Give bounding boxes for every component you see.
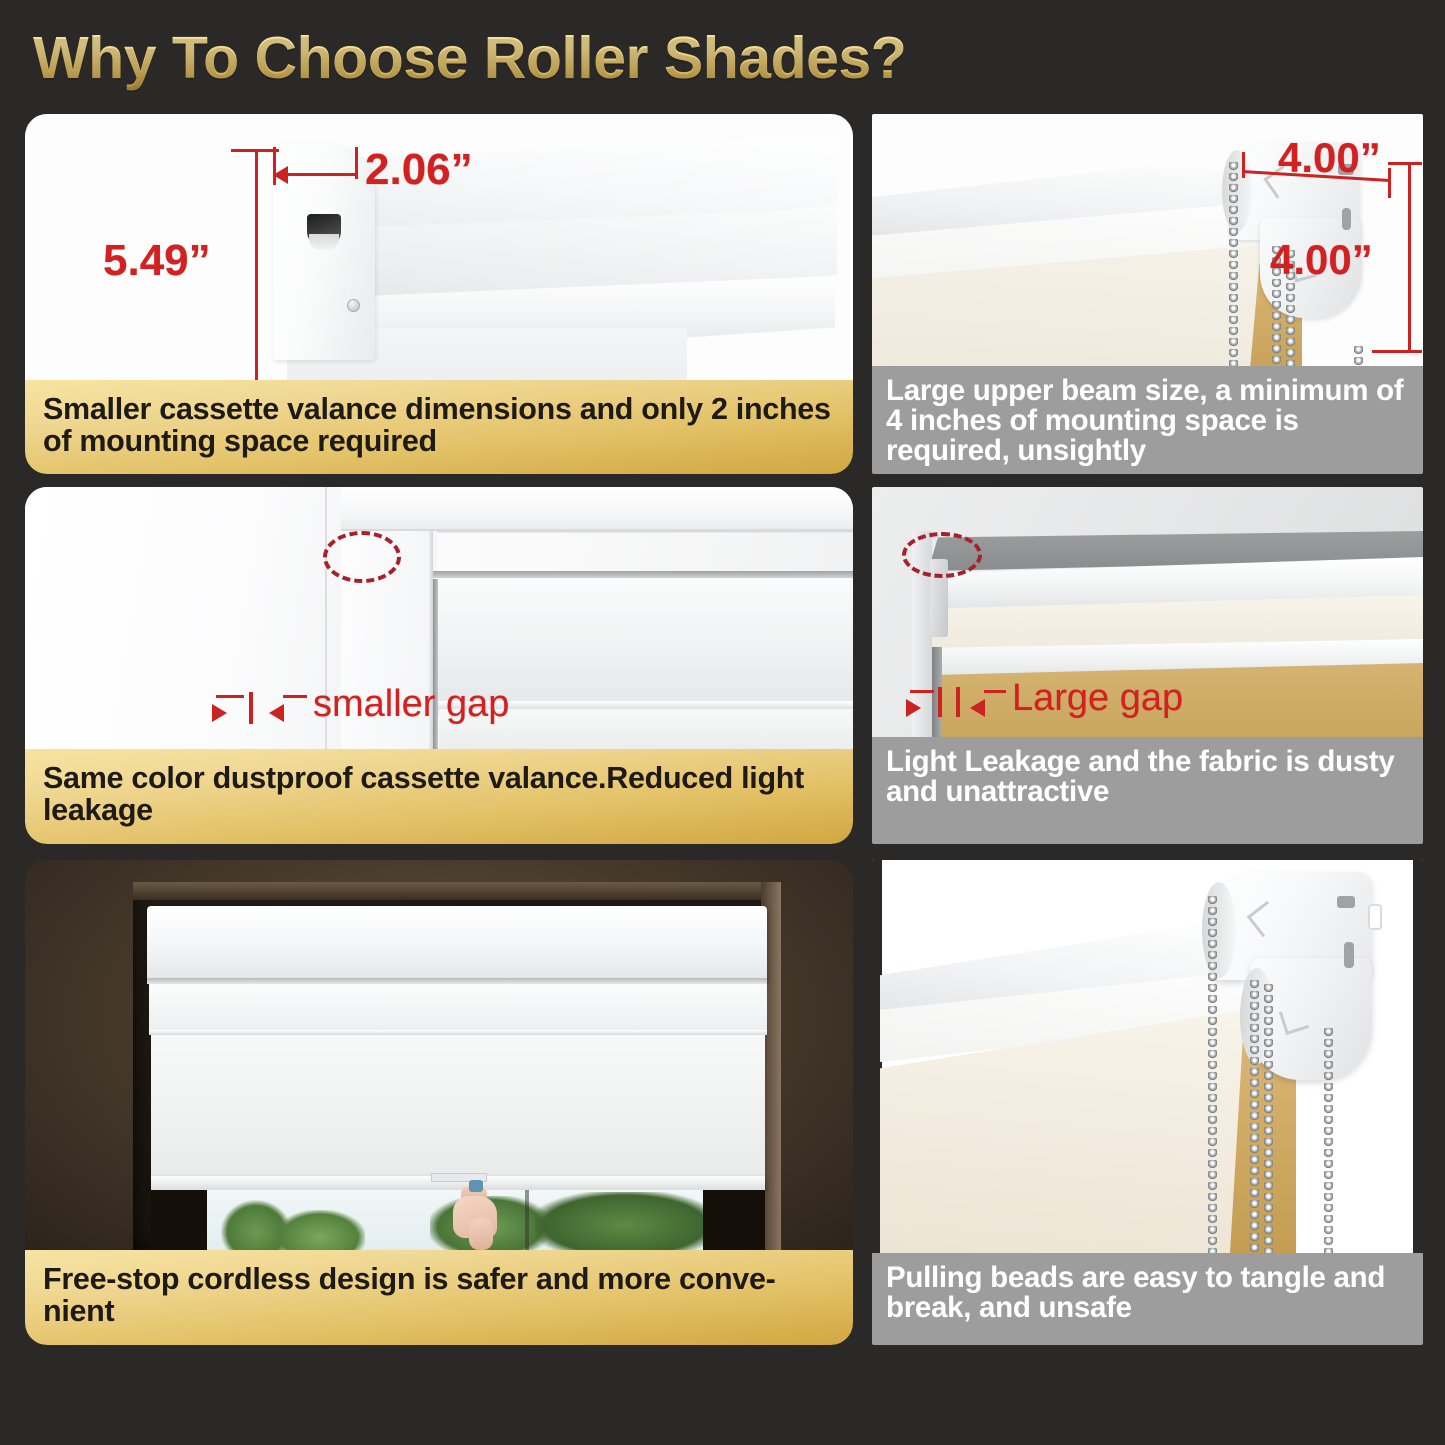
bead-chain-1	[1229, 162, 1238, 366]
panel-2-photo: 4.00” 4.00”	[872, 114, 1423, 366]
height-dim-tick-top	[231, 149, 279, 152]
gap-arrow-right-stem	[283, 695, 307, 698]
panel-2-caption: Large upper beam size, a minimum of 4 in…	[872, 366, 1423, 474]
gap-arrow-left	[906, 699, 921, 717]
panel-5-caption-line2: nient	[43, 1294, 114, 1328]
gap-highlight-ellipse	[902, 532, 982, 578]
gap-arrow-right	[269, 704, 284, 722]
bead-chain-4	[1324, 1028, 1333, 1253]
gap-arrow-left	[212, 704, 227, 722]
panel-2-large-upper-beam: 4.00” 4.00” Large upper beam size, a min…	[872, 114, 1423, 474]
beam-height-label: 4.00”	[1270, 236, 1373, 284]
panel-4-caption: Light Leakage and the fabric is dusty an…	[872, 737, 1423, 844]
gap-arrow-left-stem	[216, 695, 244, 698]
smaller-gap-label: smaller gap	[313, 683, 509, 726]
panel-5-photo	[25, 860, 853, 1250]
bead-chain-1	[1208, 896, 1217, 1253]
height-dimension-label: 5.49”	[103, 236, 211, 286]
beam-height-tick-top	[1388, 162, 1422, 165]
gap-arrow-right	[970, 699, 985, 717]
panel-1-caption: Smaller cassette valance dimensions and …	[25, 380, 853, 474]
panel-4-photo: Large gap	[872, 487, 1423, 737]
bead-chain-4	[1354, 346, 1363, 366]
beam-height-tick-bottom	[1372, 350, 1422, 353]
panel-3-caption: Same color dustproof cassette valance.Re…	[25, 749, 853, 844]
beam-width-tick-left	[1242, 152, 1245, 178]
panel-3-dustproof-valance: smaller gap Same color dustproof cassett…	[25, 487, 853, 844]
panel-6-caption: Pulling beads are easy to tangle and bre…	[872, 1253, 1423, 1345]
infographic-page: Why To Choose Roller Shades?	[0, 0, 1445, 1445]
panel-6-photo	[872, 860, 1423, 1253]
panel-5-cordless-design: Free-stop cordless design is safer and m…	[25, 860, 853, 1345]
gap-highlight-ellipse	[323, 531, 401, 583]
beam-width-label: 4.00”	[1278, 134, 1381, 182]
page-title: Why To Choose Roller Shades?	[33, 24, 906, 92]
room-window-scene	[25, 860, 853, 1250]
panel-5-caption: Free-stop cordless design is safer and m…	[25, 1250, 853, 1345]
roller-shade-beads-illustration	[872, 860, 1423, 1253]
panel-5-caption-line1: Free-stop cordless design is safer and m…	[43, 1262, 776, 1296]
panel-1-smaller-cassette: 2.06” 5.49” Smaller cassette valance dim…	[25, 114, 853, 474]
panel-1-photo: 2.06” 5.49”	[25, 114, 853, 382]
width-dimension-label: 2.06”	[365, 145, 473, 195]
bead-chain-3	[1264, 984, 1273, 1253]
gap-arrow-right-stem	[984, 690, 1006, 693]
panel-3-photo: smaller gap	[25, 487, 853, 749]
bead-chain-2	[1250, 980, 1259, 1253]
gap-marker-tick-b	[956, 687, 960, 717]
panel-4-light-leakage: Large gap Light Leakage and the fabric i…	[872, 487, 1423, 844]
gap-marker-tick-a	[938, 687, 942, 717]
large-gap-label: Large gap	[1012, 677, 1183, 720]
width-dim-arrow	[273, 166, 288, 184]
beam-width-tick-right	[1388, 168, 1391, 198]
height-dim-line	[255, 149, 258, 382]
gap-marker-tick	[249, 692, 253, 724]
panel-6-pulling-beads: Pulling beads are easy to tangle and bre…	[872, 860, 1423, 1345]
gap-arrow-left-stem	[910, 690, 934, 693]
beam-height-line	[1408, 162, 1411, 352]
